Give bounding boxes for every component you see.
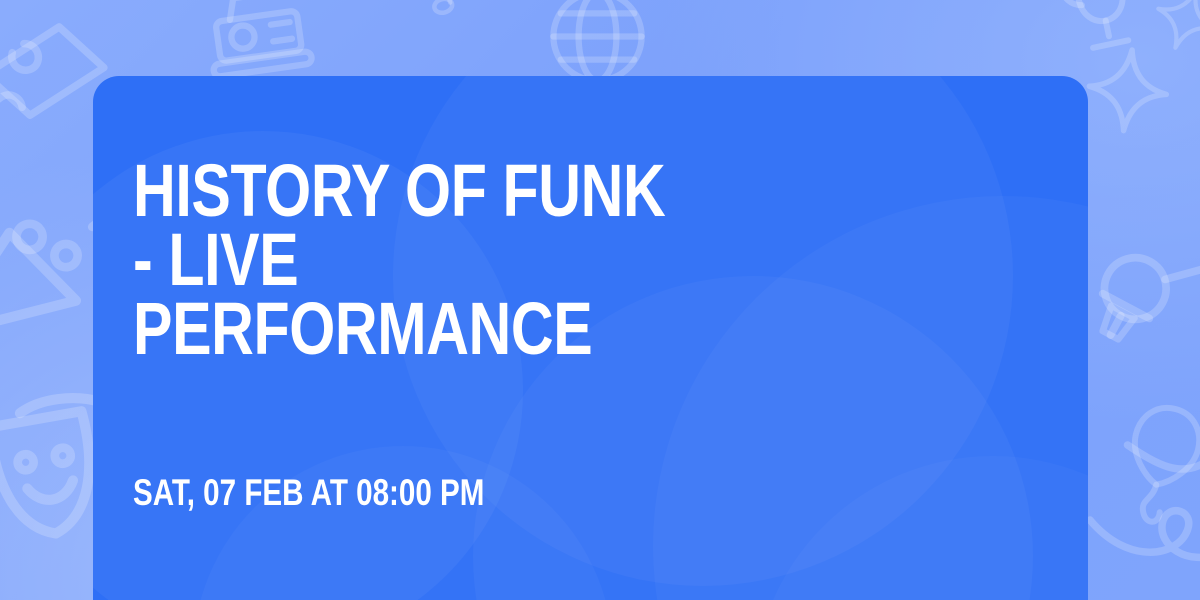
- microphone-icon: [1083, 224, 1200, 363]
- event-card[interactable]: HISTORY OF FUNK - LIVE PERFORMANCE SAT, …: [93, 76, 1088, 600]
- music-note-icon: [422, 0, 484, 15]
- sparkle-icon: [1085, 46, 1170, 135]
- card-content: HISTORY OF FUNK - LIVE PERFORMANCE SAT, …: [133, 76, 1048, 600]
- event-title: HISTORY OF FUNK - LIVE PERFORMANCE: [133, 157, 693, 363]
- party-popper-icon: [0, 197, 105, 355]
- event-banner: HISTORY OF FUNK - LIVE PERFORMANCE SAT, …: [0, 0, 1200, 600]
- projector-icon: [204, 0, 312, 77]
- event-datetime: SAT, 07 FEB AT 08:00 PM: [133, 472, 484, 514]
- trophy-icon: [1057, 0, 1148, 52]
- sparkle-icon-2: [1148, 0, 1200, 58]
- globe-icon: [553, 0, 641, 81]
